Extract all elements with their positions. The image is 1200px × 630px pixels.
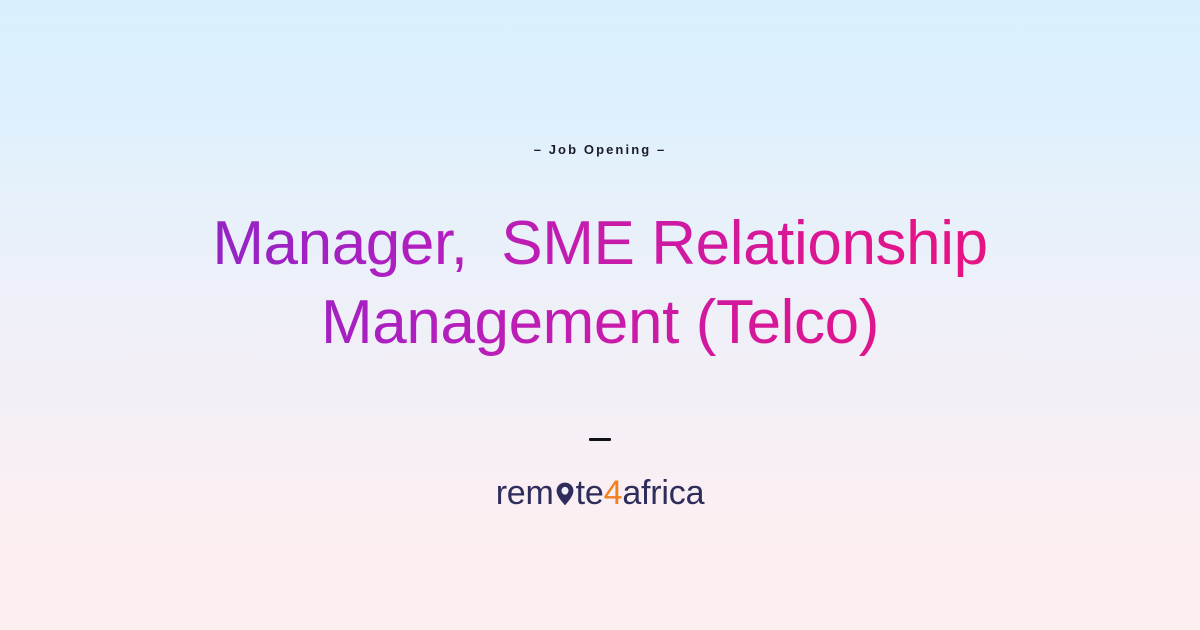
eyebrow-label: – Job Opening –: [534, 143, 667, 156]
brand-text-part-three: africa: [622, 476, 704, 510]
divider: [589, 432, 611, 446]
brand-text-part-two: te: [576, 476, 604, 510]
brand-logo[interactable]: rem te 4 africa: [496, 476, 705, 510]
brand-text-part-one: rem: [496, 476, 554, 510]
page-title: Manager, SME Relationship Management (Te…: [100, 204, 1100, 363]
map-pin-icon: [555, 481, 575, 507]
brand-accent-numeral: 4: [604, 476, 623, 510]
job-opening-card: – Job Opening – Manager, SME Relationshi…: [0, 0, 1200, 630]
divider-rule: [589, 438, 611, 441]
